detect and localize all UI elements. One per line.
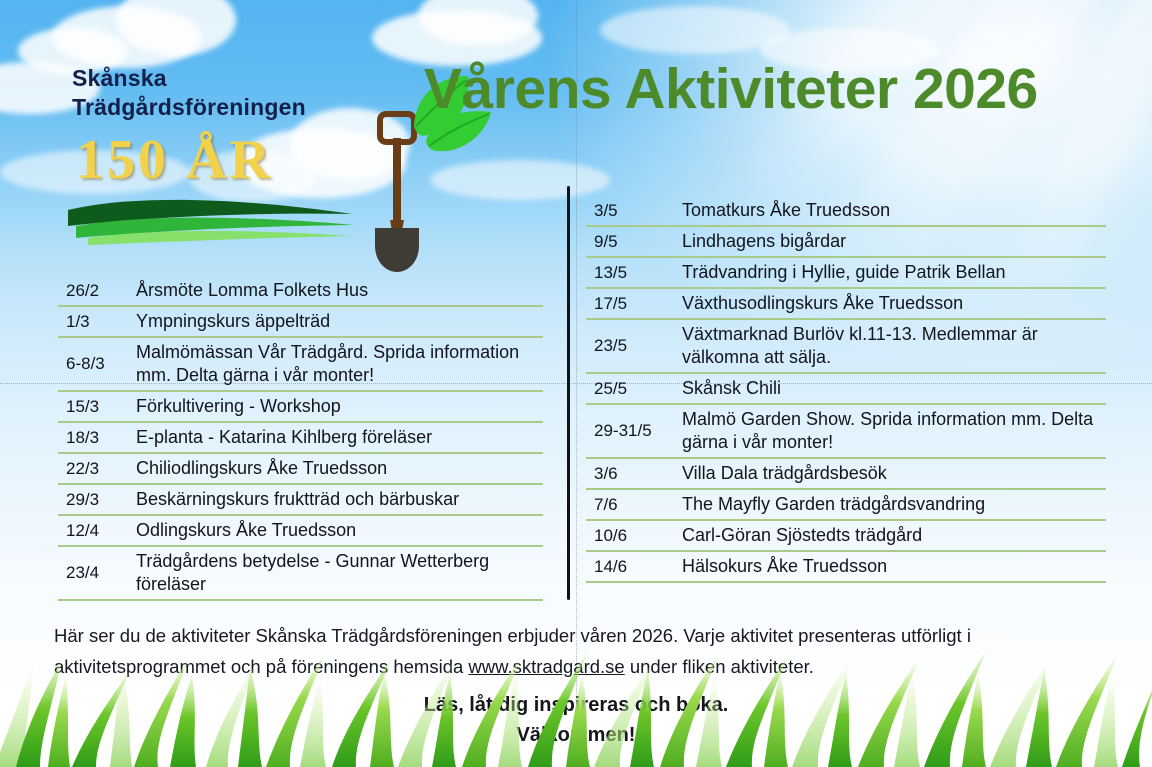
table-row: 23/5 Växtmarknad Burlöv kl.11-13. Medlem…: [586, 320, 1106, 374]
event-date: 12/4: [58, 521, 136, 541]
event-title: Odlingskurs Åke Truedsson: [136, 519, 543, 542]
event-date: 29-31/5: [586, 421, 682, 441]
column-divider: [567, 186, 570, 600]
event-date: 22/3: [58, 459, 136, 479]
event-title: Ympningskurs äppelträd: [136, 310, 543, 333]
event-title: Trädvandring i Hyllie, guide Patrik Bell…: [682, 261, 1106, 284]
event-date: 14/6: [586, 557, 682, 577]
event-date: 25/5: [586, 379, 682, 399]
table-row: 13/5 Trädvandring i Hyllie, guide Patrik…: [586, 258, 1106, 289]
event-title: Lindhagens bigårdar: [682, 230, 1106, 253]
event-date: 13/5: [586, 263, 682, 283]
event-title: Villa Dala trädgårdsbesök: [682, 462, 1106, 485]
event-date: 26/2: [58, 281, 136, 301]
logo-name-line2: Trädgårdsföreningen: [72, 93, 306, 122]
event-title: Årsmöte Lomma Folkets Hus: [136, 279, 543, 302]
event-title: Växthusodlingskurs Åke Truedsson: [682, 292, 1106, 315]
event-title: Skånsk Chili: [682, 377, 1106, 400]
footer-description: Här ser du de aktiviteter Skånska Trädgå…: [54, 620, 1104, 682]
table-row: 15/3 Förkultivering - Workshop: [58, 392, 543, 423]
table-row: 18/3 E-planta - Katarina Kihlberg förelä…: [58, 423, 543, 454]
footer-text-part2: under fliken aktiviteter.: [625, 656, 814, 677]
table-row: 29/3 Beskärningskurs fruktträd och bärbu…: [58, 485, 543, 516]
table-row: 23/4 Trädgårdens betydelse - Gunnar Wett…: [58, 547, 543, 601]
event-title: Malmömässan Vår Trädgård. Sprida informa…: [136, 341, 543, 387]
event-date: 10/6: [586, 526, 682, 546]
logo-name-line1: Skånska: [72, 64, 306, 93]
table-row: 9/5 Lindhagens bigårdar: [586, 227, 1106, 258]
schedule-right-column: 3/5 Tomatkurs Åke Truedsson 9/5 Lindhage…: [586, 196, 1106, 583]
event-date: 15/3: [58, 397, 136, 417]
table-row: 6-8/3 Malmömässan Vår Trädgård. Sprida i…: [58, 338, 543, 392]
event-date: 3/6: [586, 464, 682, 484]
table-row: 17/5 Växthusodlingskurs Åke Truedsson: [586, 289, 1106, 320]
association-logo: Skånska Trädgårdsföreningen 150 ÅR: [62, 52, 442, 237]
event-date: 29/3: [58, 490, 136, 510]
event-date: 23/5: [586, 336, 682, 356]
schedule-left-column: 26/2 Årsmöte Lomma Folkets Hus 1/3 Ympni…: [58, 276, 543, 601]
event-date: 6-8/3: [58, 354, 136, 374]
event-date: 23/4: [58, 563, 136, 583]
event-date: 1/3: [58, 312, 136, 332]
table-row: 26/2 Årsmöte Lomma Folkets Hus: [58, 276, 543, 307]
table-row: 25/5 Skånsk Chili: [586, 374, 1106, 405]
table-row: 12/4 Odlingskurs Åke Truedsson: [58, 516, 543, 547]
event-title: E-planta - Katarina Kihlberg föreläser: [136, 426, 543, 449]
table-row: 3/6 Villa Dala trädgårdsbesök: [586, 459, 1106, 490]
event-title: Förkultivering - Workshop: [136, 395, 543, 418]
cloud-icon: [418, 0, 538, 46]
event-title: Beskärningskurs fruktträd och bärbuskar: [136, 488, 543, 511]
event-title: Carl-Göran Sjöstedts trädgård: [682, 524, 1106, 547]
event-title: Växtmarknad Burlöv kl.11-13. Medlemmar ä…: [682, 323, 1106, 369]
event-title: Malmö Garden Show. Sprida information mm…: [682, 408, 1106, 454]
event-date: 3/5: [586, 201, 682, 221]
table-row: 29-31/5 Malmö Garden Show. Sprida inform…: [586, 405, 1106, 459]
event-date: 18/3: [58, 428, 136, 448]
cta-line-1: Läs, låt dig inspireras och boka.: [0, 690, 1152, 720]
event-title: Tomatkurs Åke Truedsson: [682, 199, 1106, 222]
event-title: Hälsokurs Åke Truedsson: [682, 555, 1106, 578]
cloud-icon: [116, 0, 236, 56]
logo-name: Skånska Trädgårdsföreningen: [72, 64, 306, 122]
logo-anniversary: 150 ÅR: [76, 128, 273, 192]
event-date: 7/6: [586, 495, 682, 515]
activity-poster: Skånska Trädgårdsföreningen 150 ÅR: [0, 0, 1152, 767]
swoosh-graphic: [66, 192, 356, 247]
page-title: Vårens Aktiviteter 2026: [424, 56, 1038, 122]
table-row: 1/3 Ympningskurs äppelträd: [58, 307, 543, 338]
event-title: Chiliodlingskurs Åke Truedsson: [136, 457, 543, 480]
website-link[interactable]: www.sktradgard.se: [468, 656, 624, 677]
call-to-action: Läs, låt dig inspireras och boka. Välkom…: [0, 690, 1152, 750]
event-date: 17/5: [586, 294, 682, 314]
event-date: 9/5: [586, 232, 682, 252]
event-title: The Mayfly Garden trädgårdsvandring: [682, 493, 1106, 516]
table-row: 22/3 Chiliodlingskurs Åke Truedsson: [58, 454, 543, 485]
event-title: Trädgårdens betydelse - Gunnar Wetterber…: [136, 550, 543, 596]
cta-line-2: Välkommen!: [0, 720, 1152, 750]
table-row: 3/5 Tomatkurs Åke Truedsson: [586, 196, 1106, 227]
table-row: 7/6 The Mayfly Garden trädgårdsvandring: [586, 490, 1106, 521]
table-row: 14/6 Hälsokurs Åke Truedsson: [586, 552, 1106, 583]
cloud-icon: [600, 6, 790, 54]
table-row: 10/6 Carl-Göran Sjöstedts trädgård: [586, 521, 1106, 552]
